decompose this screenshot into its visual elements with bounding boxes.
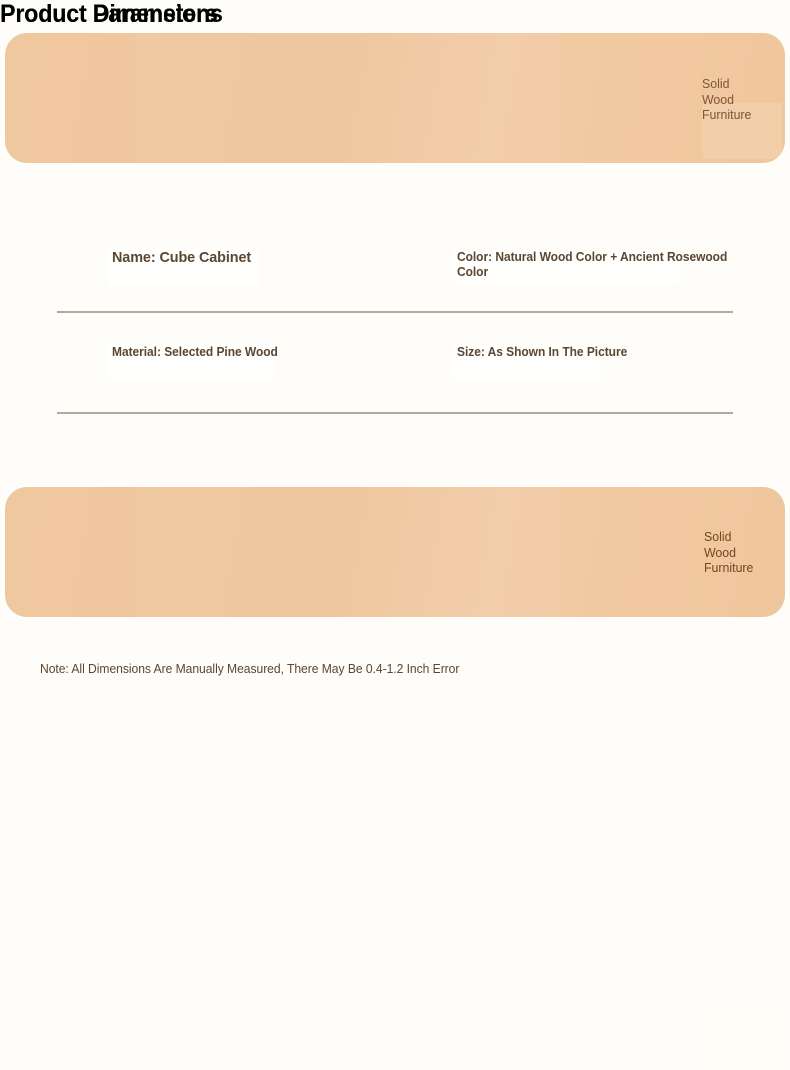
spec-cell-material: Material: Selected Pine Wood xyxy=(112,345,392,360)
brand-tag-solid-wood-furniture: Solid Wood Furniture xyxy=(704,529,753,576)
spec-divider xyxy=(57,412,733,414)
spec-value-name: Name: Cube Cabinet xyxy=(112,250,381,267)
measurement-note: Note: All Dimensions Are Manually Measur… xyxy=(40,661,459,677)
spec-divider xyxy=(57,311,733,313)
banner-sheen-overlay xyxy=(135,33,560,163)
product-info-page: Product Parameters Solid Wood Furniture … xyxy=(0,0,790,703)
product-dimensions-title: Product Dimensions xyxy=(0,0,223,29)
product-dimensions-banner xyxy=(5,487,785,617)
brand-tag-plate xyxy=(704,1010,784,1070)
spec-value-size: Size: As Shown In The Picture xyxy=(457,345,745,360)
spec-cell-color: Color: Natural Wood Color + Ancient Rose… xyxy=(457,250,757,279)
spec-cell-size: Size: As Shown In The Picture xyxy=(457,345,757,360)
product-parameters-banner xyxy=(5,33,785,163)
brand-tag-solid-wood-furniture: Solid Wood Furniture xyxy=(702,76,751,123)
spec-value-material: Material: Selected Pine Wood xyxy=(112,345,381,360)
spec-value-color: Color: Natural Wood Color + Ancient Rose… xyxy=(457,250,745,279)
spec-cell-name: Name: Cube Cabinet xyxy=(112,250,392,267)
banner-sheen-overlay xyxy=(135,487,560,617)
